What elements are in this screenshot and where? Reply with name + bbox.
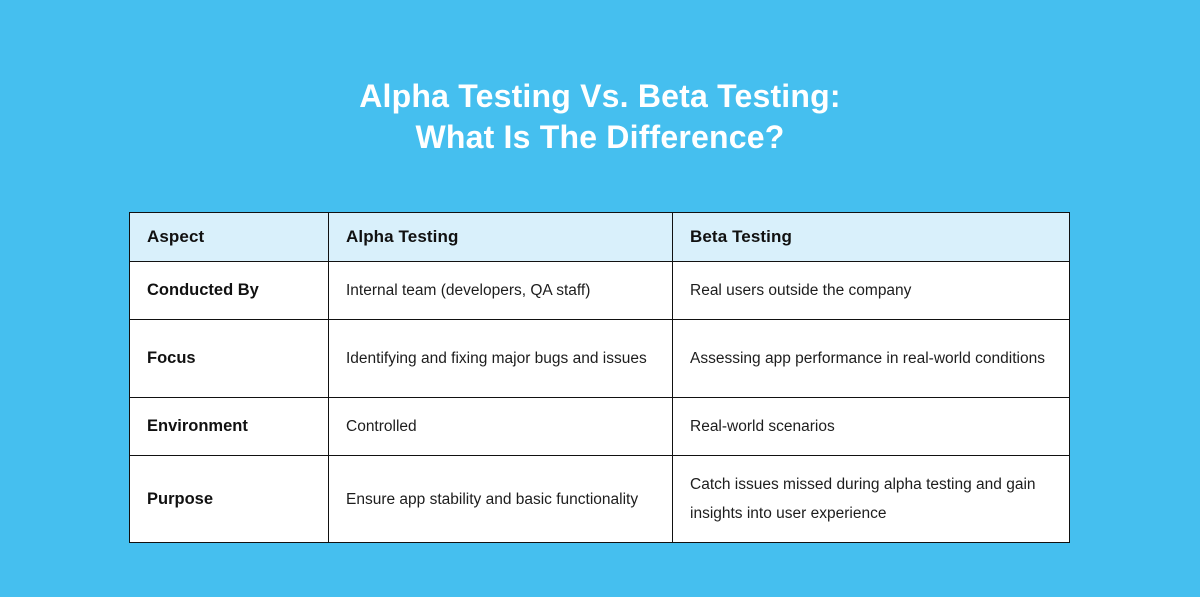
cell-alpha-purpose: Ensure app stability and basic functiona… bbox=[329, 456, 673, 543]
cell-beta-conducted-by: Real users outside the company bbox=[673, 262, 1070, 320]
comparison-table-container: Aspect Alpha Testing Beta Testing Conduc… bbox=[129, 212, 1069, 543]
cell-beta-purpose: Catch issues missed during alpha testing… bbox=[673, 456, 1070, 543]
cell-beta-focus: Assessing app performance in real-world … bbox=[673, 320, 1070, 398]
table-row: Conducted By Internal team (developers, … bbox=[130, 262, 1070, 320]
cell-alpha-conducted-by: Internal team (developers, QA staff) bbox=[329, 262, 673, 320]
table-row: Environment Controlled Real-world scenar… bbox=[130, 398, 1070, 456]
table-row: Focus Identifying and fixing major bugs … bbox=[130, 320, 1070, 398]
cell-aspect-purpose: Purpose bbox=[130, 456, 329, 543]
column-header-alpha-testing: Alpha Testing bbox=[329, 213, 673, 262]
column-header-beta-testing: Beta Testing bbox=[673, 213, 1070, 262]
table-row: Purpose Ensure app stability and basic f… bbox=[130, 456, 1070, 543]
column-header-aspect: Aspect bbox=[130, 213, 329, 262]
cell-beta-environment: Real-world scenarios bbox=[673, 398, 1070, 456]
title-line-1: Alpha Testing Vs. Beta Testing: bbox=[0, 76, 1200, 117]
cell-aspect-focus: Focus bbox=[130, 320, 329, 398]
poster-canvas: Alpha Testing Vs. Beta Testing: What Is … bbox=[0, 0, 1200, 597]
cell-aspect-conducted-by: Conducted By bbox=[130, 262, 329, 320]
cell-alpha-focus: Identifying and fixing major bugs and is… bbox=[329, 320, 673, 398]
title-line-2: What Is The Difference? bbox=[0, 117, 1200, 158]
table-header-row: Aspect Alpha Testing Beta Testing bbox=[130, 213, 1070, 262]
cell-alpha-environment: Controlled bbox=[329, 398, 673, 456]
comparison-table: Aspect Alpha Testing Beta Testing Conduc… bbox=[129, 212, 1070, 543]
cell-aspect-environment: Environment bbox=[130, 398, 329, 456]
page-title: Alpha Testing Vs. Beta Testing: What Is … bbox=[0, 76, 1200, 158]
table-head: Aspect Alpha Testing Beta Testing bbox=[130, 213, 1070, 262]
table-body: Conducted By Internal team (developers, … bbox=[130, 262, 1070, 543]
